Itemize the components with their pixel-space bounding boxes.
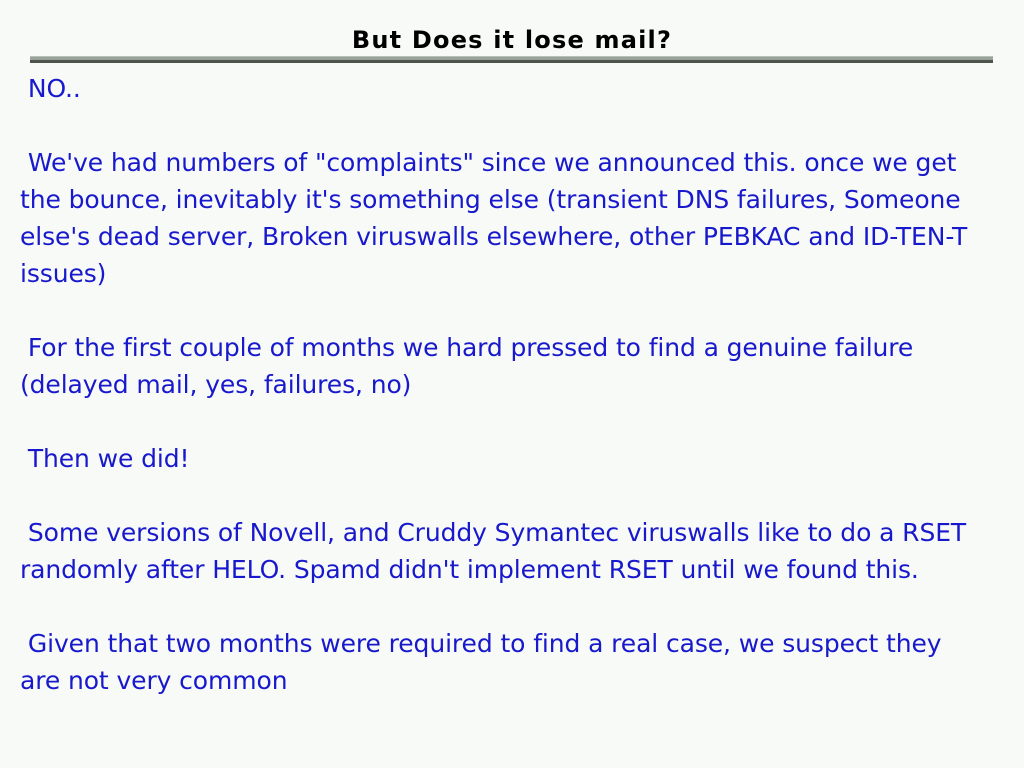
paragraph-conclusion: Given that two months were required to f… bbox=[20, 625, 984, 699]
paragraph-novell-symantec: Some versions of Novell, and Cruddy Syma… bbox=[20, 514, 984, 588]
paragraph-answer: NO.. bbox=[20, 70, 984, 107]
title-divider bbox=[30, 56, 993, 63]
slide-body: NO.. We've had numbers of "complaints" s… bbox=[20, 70, 984, 699]
paragraph-then-we-did: Then we did! bbox=[20, 440, 984, 477]
page-title: But Does it lose mail? bbox=[0, 26, 1024, 54]
paragraph-first-months: For the first couple of months we hard p… bbox=[20, 329, 984, 403]
presentation-slide: But Does it lose mail? NO.. We've had nu… bbox=[0, 0, 1024, 768]
paragraph-complaints: We've had numbers of "complaints" since … bbox=[20, 144, 984, 292]
